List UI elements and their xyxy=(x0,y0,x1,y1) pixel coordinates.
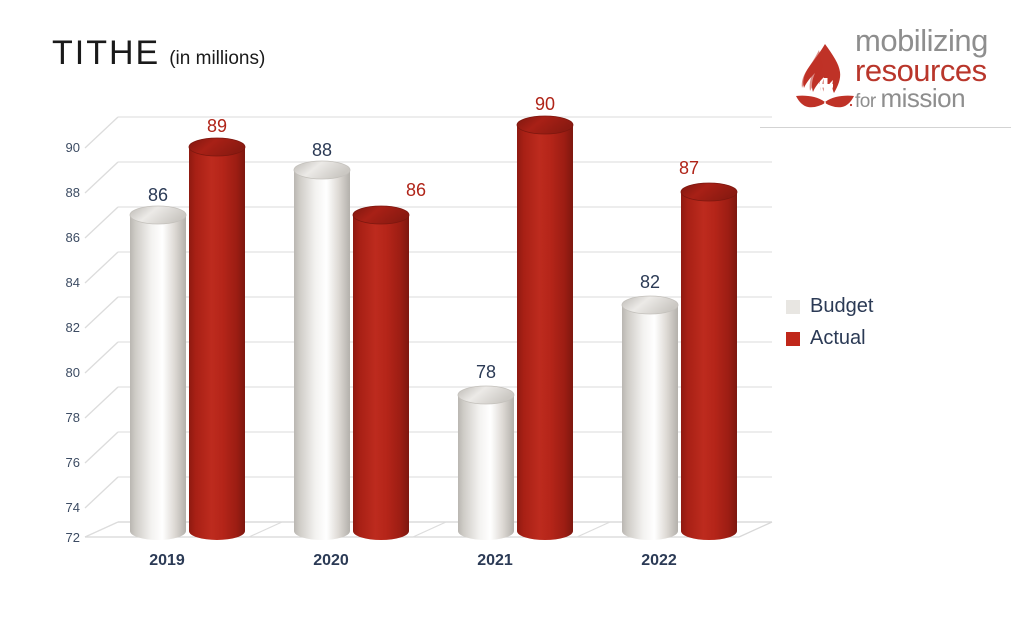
data-label-2019-budget: 86 xyxy=(123,185,193,206)
x-axis-tick-2020: 2020 xyxy=(271,552,391,570)
y-axis-tick-74: 74 xyxy=(40,500,80,515)
bar-2020-budget xyxy=(294,161,350,540)
y-axis-tick-84: 84 xyxy=(40,275,80,290)
data-label-2021-budget: 78 xyxy=(451,362,521,383)
y-axis-tick-82: 82 xyxy=(40,320,80,335)
x-axis-tick-2021: 2021 xyxy=(435,552,555,570)
bar-2019-actual xyxy=(189,138,245,540)
data-label-2022-budget: 82 xyxy=(615,272,685,293)
bar-2021-budget xyxy=(458,386,514,540)
x-axis-tick-2022: 2022 xyxy=(599,552,719,570)
data-label-2020-budget: 88 xyxy=(287,140,357,161)
y-axis-tick-90: 90 xyxy=(40,140,80,155)
data-label-2021-actual: 90 xyxy=(510,94,580,115)
legend-item-actual[interactable]: Actual xyxy=(786,327,873,350)
data-label-2019-actual: 89 xyxy=(182,116,252,137)
y-axis-tick-80: 80 xyxy=(40,365,80,380)
bar-2022-actual xyxy=(681,183,737,540)
y-axis-tick-88: 88 xyxy=(40,185,80,200)
bar-2019-budget xyxy=(130,206,186,540)
x-axis-tick-2019: 2019 xyxy=(107,552,227,570)
legend-label-budget: Budget xyxy=(810,295,873,318)
legend-swatch-budget-icon xyxy=(786,300,800,314)
slide-canvas: TITHE(in millions) mobilizing resources xyxy=(0,0,1016,629)
chart-legend: Budget Actual xyxy=(786,295,873,359)
data-label-2020-actual: 86 xyxy=(381,180,451,201)
legend-item-budget[interactable]: Budget xyxy=(786,295,873,318)
data-label-2022-actual: 87 xyxy=(654,158,724,179)
bar-2021-actual xyxy=(517,116,573,540)
tithe-bar-chart: 90 88 86 84 82 80 78 76 74 72 2019 2020 … xyxy=(0,0,1016,629)
bar-2020-actual xyxy=(353,206,409,540)
y-axis-tick-76: 76 xyxy=(40,455,80,470)
bar-2022-budget xyxy=(622,296,678,540)
y-axis-tick-78: 78 xyxy=(40,410,80,425)
y-axis-tick-86: 86 xyxy=(40,230,80,245)
legend-label-actual: Actual xyxy=(810,327,866,350)
y-axis-tick-72: 72 xyxy=(40,530,80,545)
legend-swatch-actual-icon xyxy=(786,332,800,346)
